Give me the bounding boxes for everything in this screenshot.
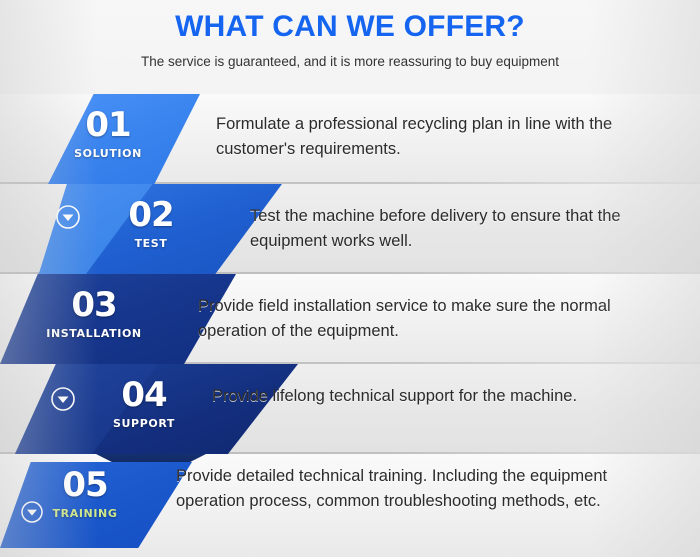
step-4-number: 04 [98,378,190,412]
page-subtitle: The service is guaranteed, and it is mor… [0,54,700,69]
page-title: WHAT CAN WE OFFER? [0,10,700,44]
step-4-label: SUPPORT [98,417,190,430]
step-1-description: Formulate a professional recycling plan … [216,112,666,162]
chevron-down-circle-icon [55,204,81,230]
step-2-badge: 02 TEST [108,198,194,250]
step-1-badge: 01 SOLUTION [68,108,148,160]
step-1-number: 01 [68,108,148,142]
step-3-number: 03 [36,288,152,322]
step-5-badge: 05 TRAINING [42,468,128,520]
step-3-badge: 03 INSTALLATION [36,288,152,340]
chevron-down-circle-icon [20,500,44,524]
step-4-badge: 04 SUPPORT [98,378,190,430]
header: WHAT CAN WE OFFER? The service is guaran… [0,0,700,92]
step-2-label: TEST [108,237,194,250]
step-2-description: Test the machine before delivery to ensu… [250,204,670,254]
step-2-number: 02 [108,198,194,232]
step-1-label: SOLUTION [68,147,148,160]
step-3-description: Provide field installation service to ma… [198,294,668,344]
chevron-down-circle-icon [50,386,76,412]
step-4-description: Provide lifelong technical support for t… [212,384,662,409]
infographic-page: WHAT CAN WE OFFER? The service is guaran… [0,0,700,557]
step-3-label: INSTALLATION [36,327,152,340]
step-5-label: TRAINING [42,507,128,520]
step-5-description: Provide detailed technical training. Inc… [176,464,676,514]
step-5-number: 05 [42,468,128,502]
